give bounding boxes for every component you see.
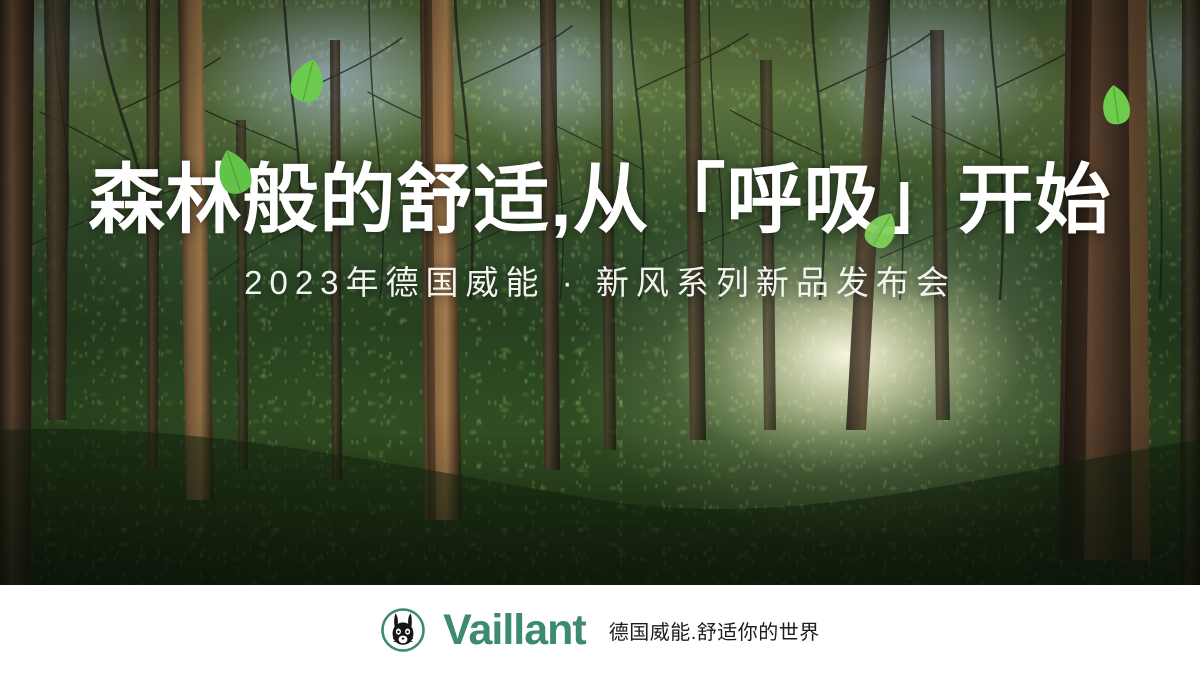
poster-subtitle: 2023年德国威能 · 新风系列新品发布会 [0,256,1200,304]
floating-leaf-4-icon [1097,82,1136,128]
brand-tagline: 德国威能.舒适你的世界 [609,616,820,645]
footer-brand-bar: Vaillant 德国威能.舒适你的世界 [0,585,1200,675]
poster-headline: 森林般的舒适,从「呼吸」开始 [0,160,1200,242]
headline-block: 森林般的舒适,从「呼吸」开始 2023年德国威能 · 新风系列新品发布会 [0,160,1200,304]
vaillant-logo: Vaillant 德国威能.舒适你的世界 [380,607,820,653]
rabbit-head-in-circle-icon [380,607,426,653]
event-poster: 森林般的舒适,从「呼吸」开始 2023年德国威能 · 新风系列新品发布会 [0,0,1200,675]
vaillant-wordmark: Vaillant [443,609,586,652]
